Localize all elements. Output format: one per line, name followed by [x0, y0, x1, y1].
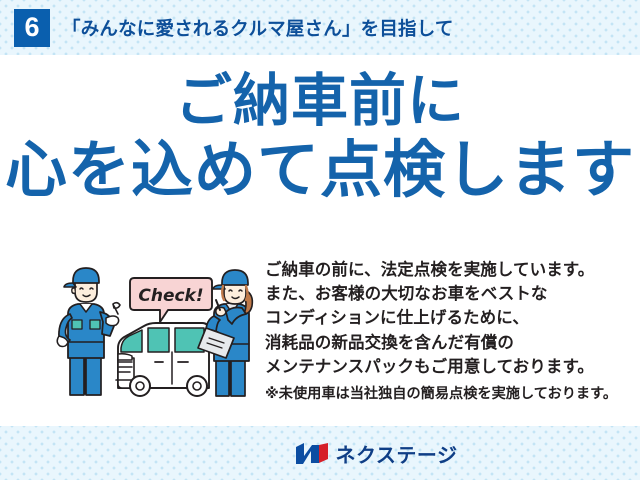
section-number-badge: 6 — [14, 9, 50, 47]
body-copy-note: ※未使用車は当社独自の簡易点検を実施しております。 — [265, 382, 630, 406]
header-title: 「みんなに愛されるクルマ屋さん」を目指して — [62, 15, 454, 41]
mechanic-male-figure — [57, 268, 120, 395]
mechanics-inspection-illustration: Check! — [56, 262, 261, 398]
headline-line-1: ご納車前に — [0, 72, 640, 130]
body-copy-line-2: また、お客様の大切なお車をベストな — [265, 282, 630, 306]
body-copy-line-1: ご納車の前に、法定点検を実施しています。 — [265, 258, 630, 282]
brand-name: ネクステージ — [336, 439, 458, 468]
body-copy-line-3: コンディションに仕上げるために、 — [265, 306, 630, 330]
promo-banner: 6 「みんなに愛されるクルマ屋さん」を目指して ご納車前に 心を込めて点検します… — [0, 0, 640, 480]
brand-logo: ネクステージ — [295, 439, 458, 468]
footer: ネクステージ — [0, 426, 640, 480]
body-copy-line-4: 消耗品の新品交換を含んだ有償の — [265, 331, 630, 355]
body-copy: ご納車の前に、法定点検を実施しています。 また、お客様の大切なお車をベストな コ… — [265, 258, 630, 406]
header: 6 「みんなに愛されるクルマ屋さん」を目指して — [0, 0, 640, 55]
nextage-n-logo-icon — [295, 442, 329, 465]
van-illustration — [116, 323, 209, 396]
body-copy-line-5: メンテナンスパックもご用意しております。 — [265, 355, 630, 379]
check-speech-bubble-text: Check! — [138, 286, 203, 306]
headline-line-2: 心を込めて点検します — [0, 139, 640, 202]
headline: ご納車前に 心を込めて点検します — [0, 72, 640, 202]
